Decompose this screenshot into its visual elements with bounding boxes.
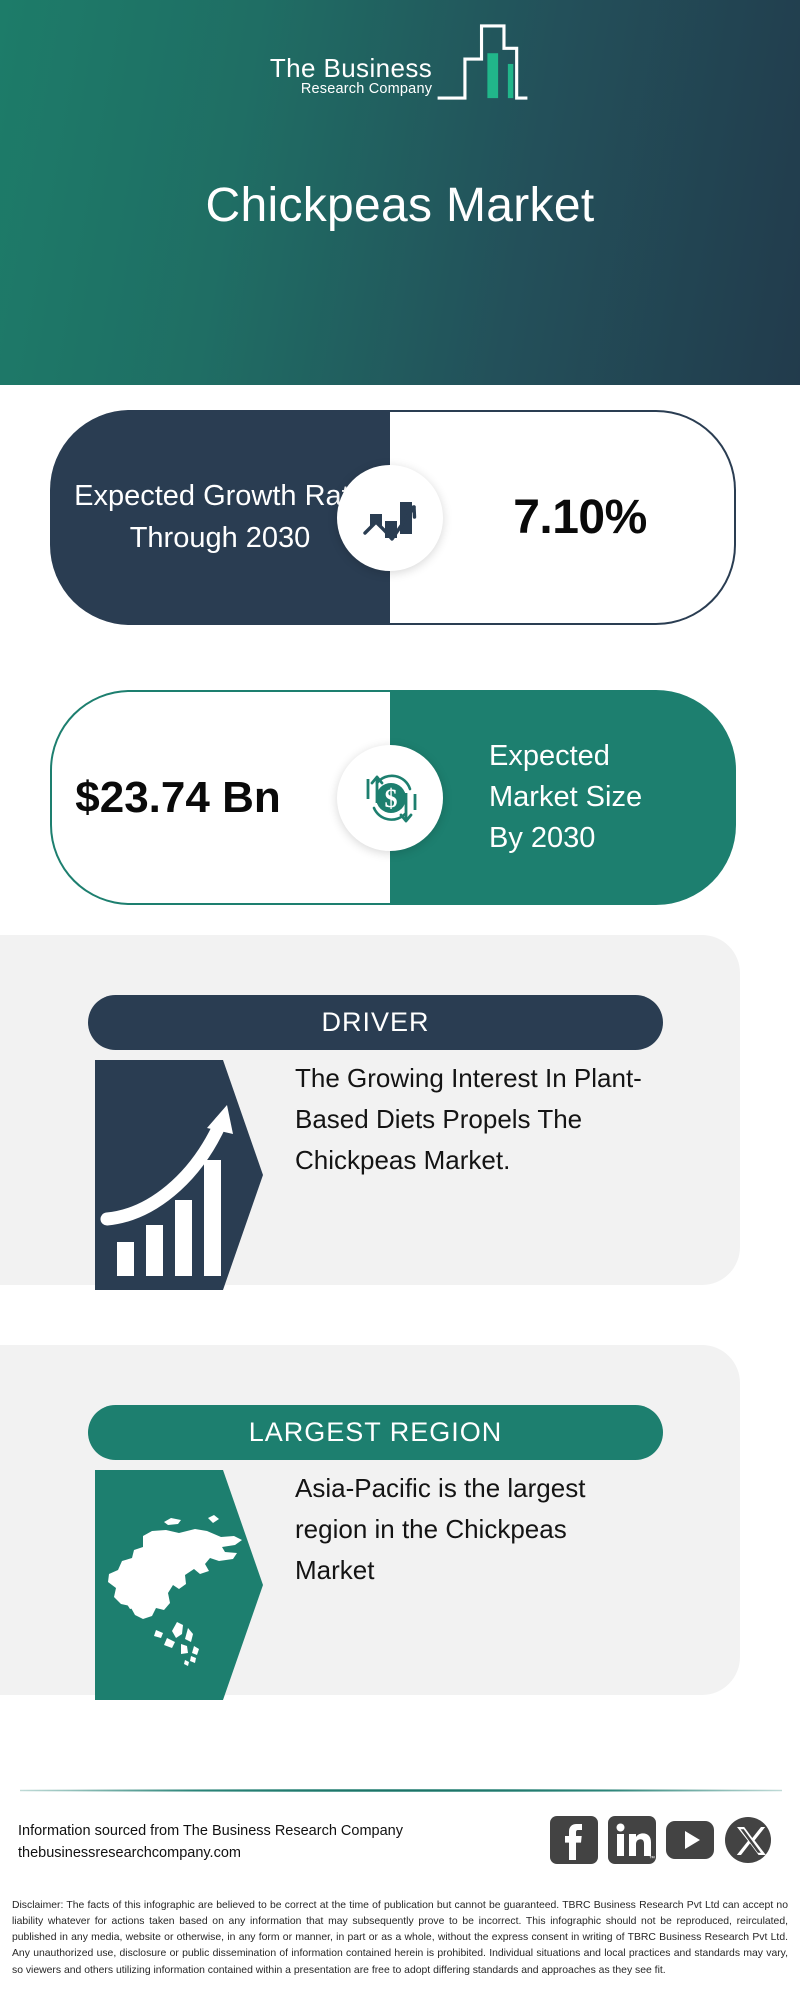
facebook-icon[interactable] xyxy=(550,1816,598,1864)
footer-source-block: Information sourced from The Business Re… xyxy=(18,1820,488,1865)
footer-disclaimer: Disclaimer: The facts of this infographi… xyxy=(12,1898,788,1979)
linkedin-icon[interactable]: ™ xyxy=(608,1816,656,1864)
youtube-icon[interactable] xyxy=(666,1816,714,1864)
page-title: Chickpeas Market xyxy=(0,178,800,233)
growth-chart-arrow-icon xyxy=(356,484,424,552)
bar-chart-logo-icon xyxy=(435,21,530,103)
brand-logo-line2: Research Company xyxy=(301,82,432,97)
footer-source-line: Information sourced from The Business Re… xyxy=(18,1820,488,1842)
brand-logo-text: The Business Research Company xyxy=(270,55,432,103)
footer-website[interactable]: thebusinessresearchcompany.com xyxy=(18,1842,488,1864)
stat-card-growth-rate-value: 7.10% xyxy=(477,490,647,545)
social-links: ™ xyxy=(550,1816,772,1864)
stat-card-market-size-icon-badge: $ xyxy=(337,745,443,851)
svg-text:™: ™ xyxy=(649,1855,655,1862)
driver-pill: DRIVER xyxy=(88,995,663,1050)
header-banner: The Business Research Company Chickpeas … xyxy=(0,0,800,385)
rising-bar-chart-icon xyxy=(95,1060,265,1290)
brand-logo[interactable]: The Business Research Company xyxy=(0,18,800,103)
largest-region-pill: LARGEST REGION xyxy=(88,1405,663,1460)
footer-divider xyxy=(20,1789,782,1792)
svg-text:$: $ xyxy=(385,784,398,813)
driver-body-text: The Growing Interest In Plant-Based Diet… xyxy=(295,1058,645,1181)
stat-card-growth-rate-icon-badge xyxy=(337,465,443,571)
brand-logo-line1: The Business xyxy=(270,55,432,82)
x-twitter-icon[interactable] xyxy=(724,1816,772,1864)
asia-map-icon xyxy=(95,1470,265,1700)
dollar-circulation-icon: $ xyxy=(355,763,425,833)
stat-card-growth-rate-label: Expected Growth Rate Through 2030 xyxy=(70,476,370,558)
largest-region-pill-label: LARGEST REGION xyxy=(249,1417,503,1448)
stat-card-growth-rate: Expected Growth Rate Through 2030 7.10% xyxy=(50,410,736,625)
largest-region-body-text: Asia-Pacific is the largest region in th… xyxy=(295,1468,645,1591)
stat-card-market-size-value: $23.74 Bn xyxy=(52,768,282,827)
driver-pill-label: DRIVER xyxy=(321,1007,429,1038)
stat-card-market-size: $23.74 Bn Expected Market Size By 2030 $ xyxy=(50,690,736,905)
stat-card-market-size-label: Expected Market Size By 2030 xyxy=(443,736,683,860)
